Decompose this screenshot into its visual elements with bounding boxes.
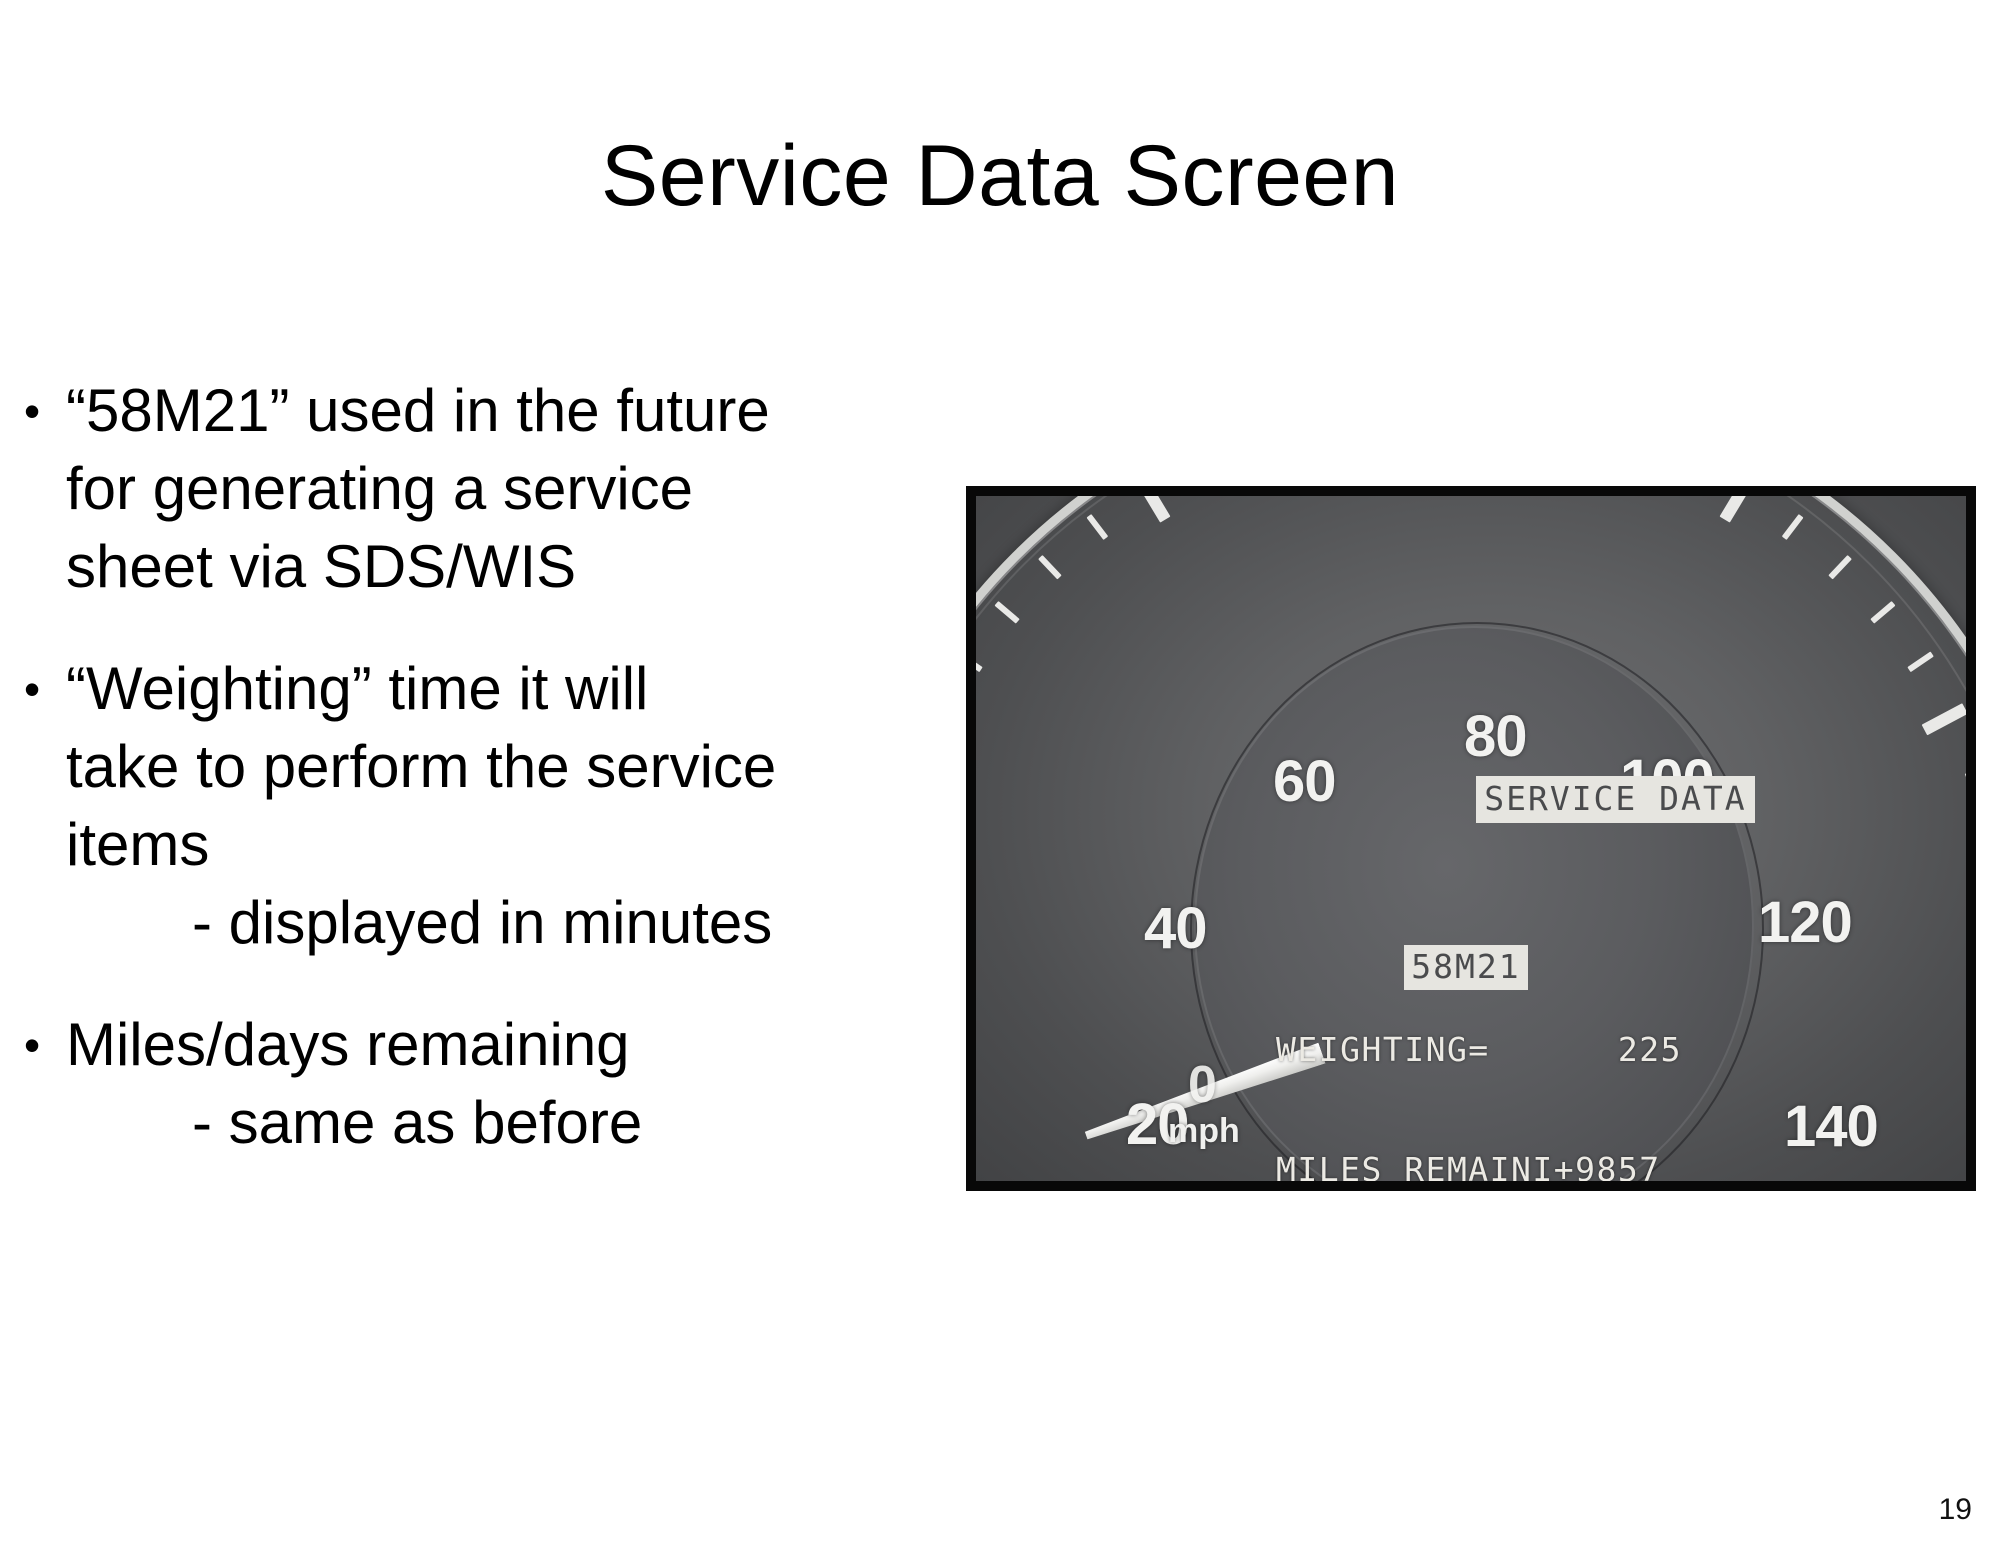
bullet-first-line: • Miles/days remaining — [24, 1006, 724, 1084]
gauge-minor-tick — [1038, 555, 1062, 579]
gauge-minor-tick — [1087, 514, 1109, 540]
dial-number-120: 120 — [1758, 894, 1852, 952]
bullet-marker-icon: • — [24, 650, 66, 728]
lcd-row-weighting: WEIGHTING= 225 — [1276, 1030, 1706, 1070]
gauge-minor-tick — [976, 651, 983, 672]
spacer — [24, 632, 724, 650]
lcd-service-code: 58M21 — [1404, 945, 1527, 990]
dial-number-140: 140 — [1784, 1098, 1878, 1156]
lcd-header: SERVICE DATA — [1476, 776, 1754, 823]
spacer — [24, 988, 724, 1006]
sub-bullet-text: - displayed in minutes — [24, 884, 724, 962]
page-number: 19 — [1939, 1493, 1972, 1527]
lcd-row-miles-remaining: MILES REMAINI+9857 — [1276, 1150, 1706, 1181]
gauge-minor-tick — [1828, 555, 1852, 579]
dial-number-zero: 0 — [1188, 1056, 1216, 1114]
gauge-minor-tick — [1870, 601, 1895, 624]
gauge-minor-tick — [1965, 763, 1966, 779]
gauge-face: 20 40 60 80 100 120 140 160 0 mph SERVIC… — [976, 496, 1966, 1181]
bullet-item-3: • Miles/days remaining - same as before — [24, 1006, 724, 1162]
bullet-continuation-line: for generating a service — [24, 450, 724, 528]
spacer — [1276, 863, 1706, 905]
unit-label-mph: mph — [1168, 1114, 1240, 1148]
bullet-text: Miles/days remaining — [66, 1006, 724, 1084]
bullet-item-1: • “58M21” used in the future for generat… — [24, 372, 724, 606]
bullet-text: “58M21” used in the future — [66, 372, 770, 450]
bullet-item-2: • “Weighting” time it will take to perfo… — [24, 650, 724, 962]
page-title: Service Data Screen — [0, 128, 2000, 224]
bullet-first-line: • “58M21” used in the future — [24, 372, 724, 450]
bullet-text: “Weighting” time it will — [66, 650, 724, 728]
gauge-minor-tick — [1907, 651, 1934, 672]
lcd-service-data-display: SERVICE DATA 58M21 WEIGHTING= 225 MILES … — [1276, 736, 1706, 1181]
bullet-marker-icon: • — [24, 1006, 66, 1084]
bullet-first-line: • “Weighting” time it will — [24, 650, 724, 728]
gauge-major-tick — [1136, 496, 1170, 523]
bullet-continuation-line: items — [24, 806, 724, 884]
bullet-list: • “58M21” used in the future for generat… — [24, 372, 724, 1188]
gauge-major-tick — [1720, 496, 1754, 523]
bullet-marker-icon: • — [24, 372, 66, 450]
dial-number-40: 40 — [1144, 900, 1207, 958]
bullet-continuation-line: sheet via SDS/WIS — [24, 528, 724, 606]
bullet-continuation-line: take to perform the service — [24, 728, 724, 806]
sub-bullet-text: - same as before — [24, 1084, 724, 1162]
gauge-major-tick — [1922, 703, 1966, 735]
gauge-minor-tick — [1782, 514, 1804, 540]
gauge-minor-tick — [995, 601, 1020, 624]
speedometer-photo: 20 40 60 80 100 120 140 160 0 mph SERVIC… — [966, 486, 1976, 1191]
